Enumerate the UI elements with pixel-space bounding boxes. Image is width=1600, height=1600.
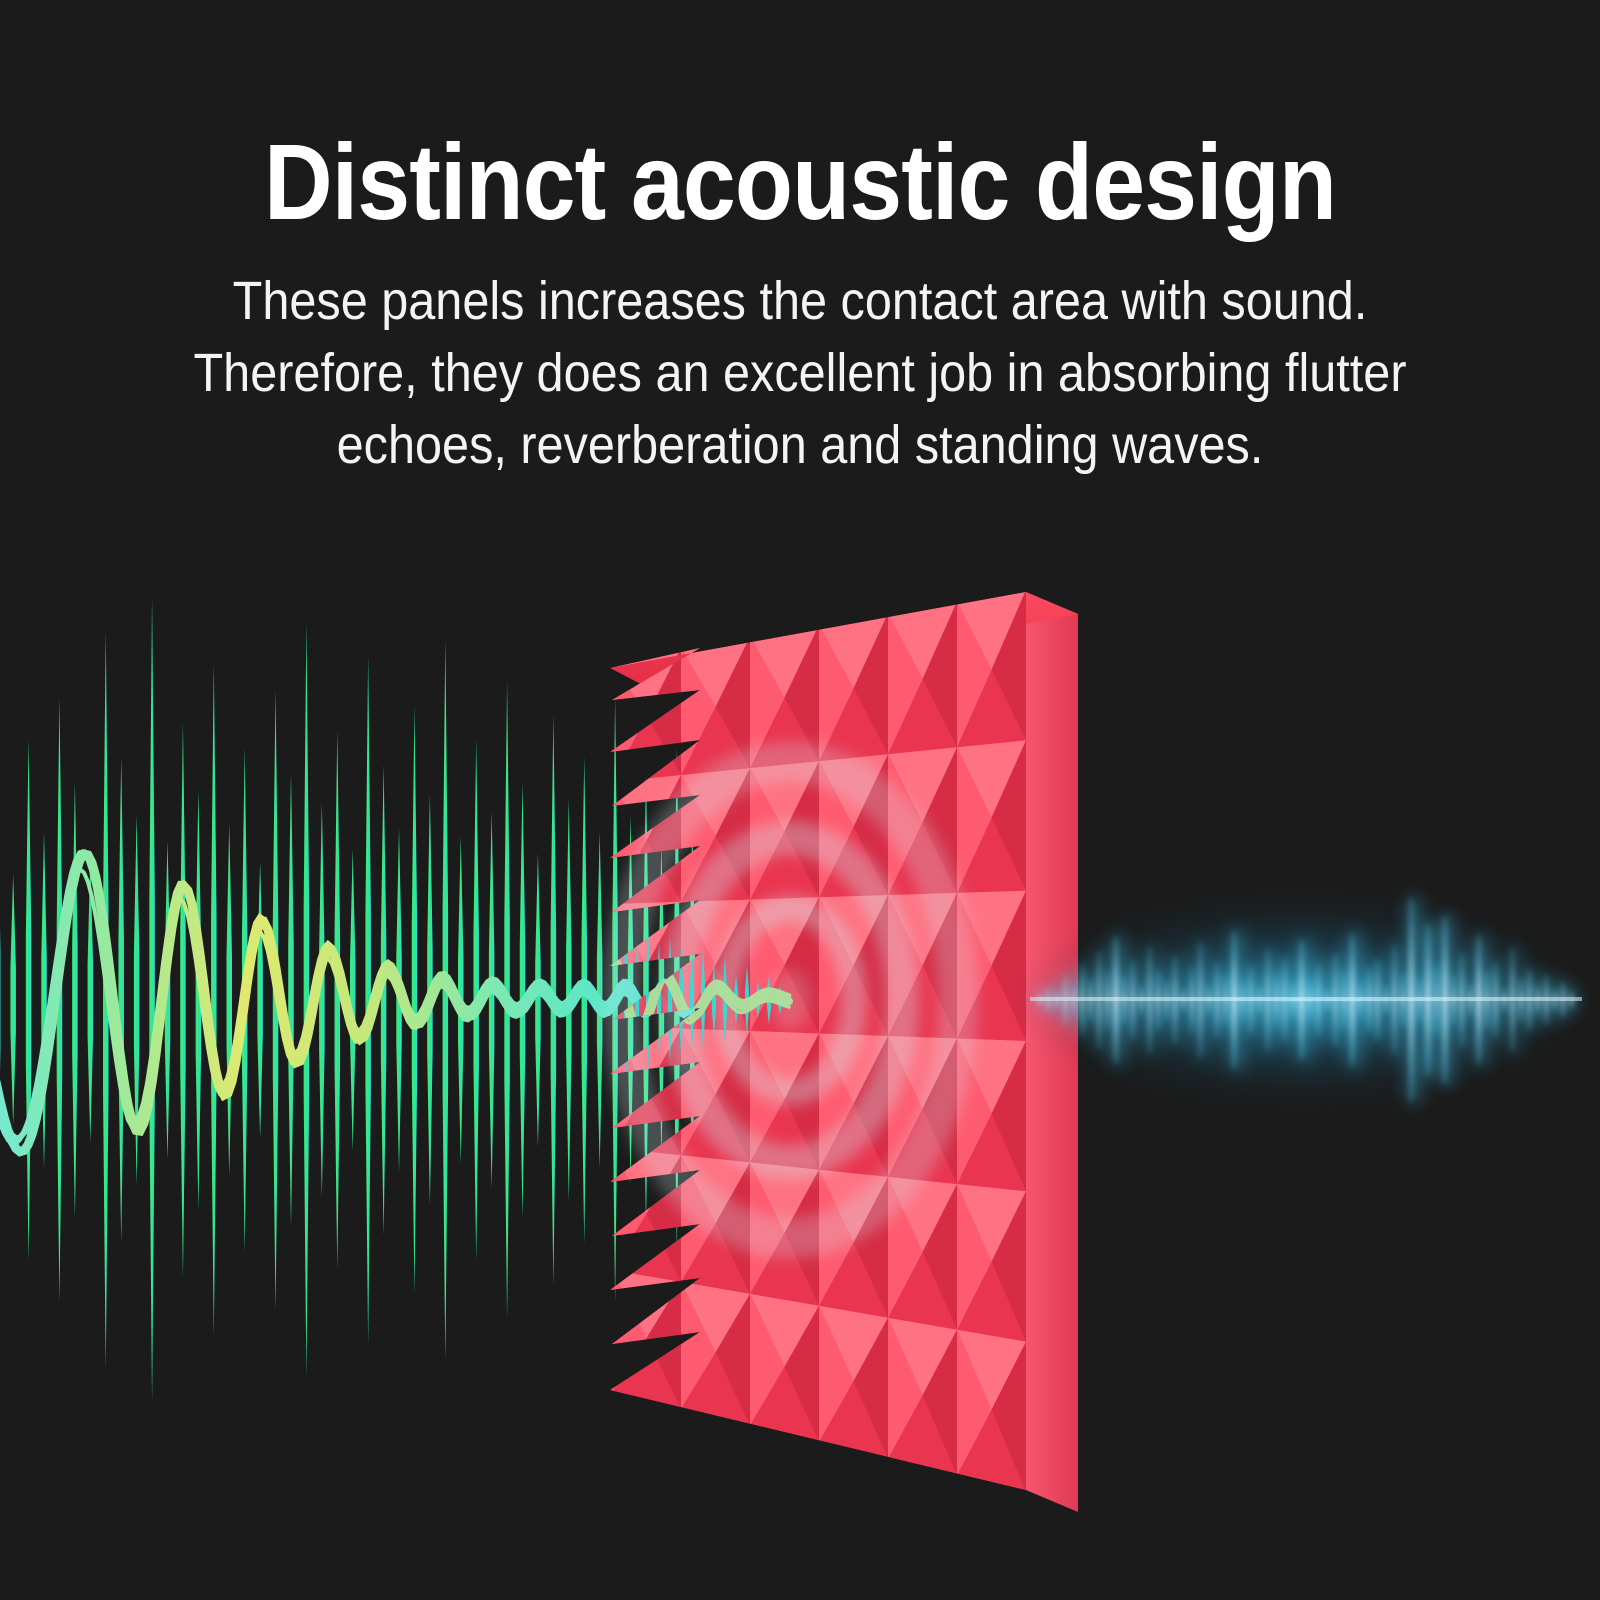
wave-bar (335, 731, 341, 1269)
wave-bar (10, 874, 16, 1126)
subtitle-line-1: These panels increases the contact area … (80, 266, 1520, 338)
wave-bar (288, 773, 294, 1227)
wave-bar (304, 622, 310, 1378)
wave-bar (381, 765, 387, 1235)
text-block: Distinct acoustic design These panels in… (0, 0, 1600, 481)
wave-bar (149, 597, 155, 1403)
subtitle-line-2: Therefore, they does an excellent job in… (80, 338, 1520, 410)
wave-bar (257, 861, 263, 1138)
wave-bar (226, 824, 232, 1177)
wave-bar (581, 756, 587, 1243)
page-title: Distinct acoustic design (96, 0, 1504, 236)
wave-bar (180, 723, 186, 1277)
wave-bar (350, 849, 356, 1151)
wave-bar (26, 740, 32, 1261)
promo-banner: Distinct acoustic design These panels in… (0, 0, 1600, 1600)
wave-bar (118, 756, 124, 1243)
page-subtitle: These panels increases the contact area … (80, 236, 1520, 481)
wave-bar (211, 664, 217, 1336)
subtitle-line-3: echoes, reverberation and standing waves… (80, 410, 1520, 482)
wave-bar (41, 832, 47, 1168)
wave-bar (489, 811, 495, 1189)
wave-bar (72, 782, 78, 1219)
wave-bar (319, 803, 325, 1198)
wave-bar (412, 706, 418, 1294)
wave-bar (443, 639, 449, 1361)
wave-bar (535, 853, 541, 1147)
outgoing-sound-wave (1010, 885, 1590, 1115)
